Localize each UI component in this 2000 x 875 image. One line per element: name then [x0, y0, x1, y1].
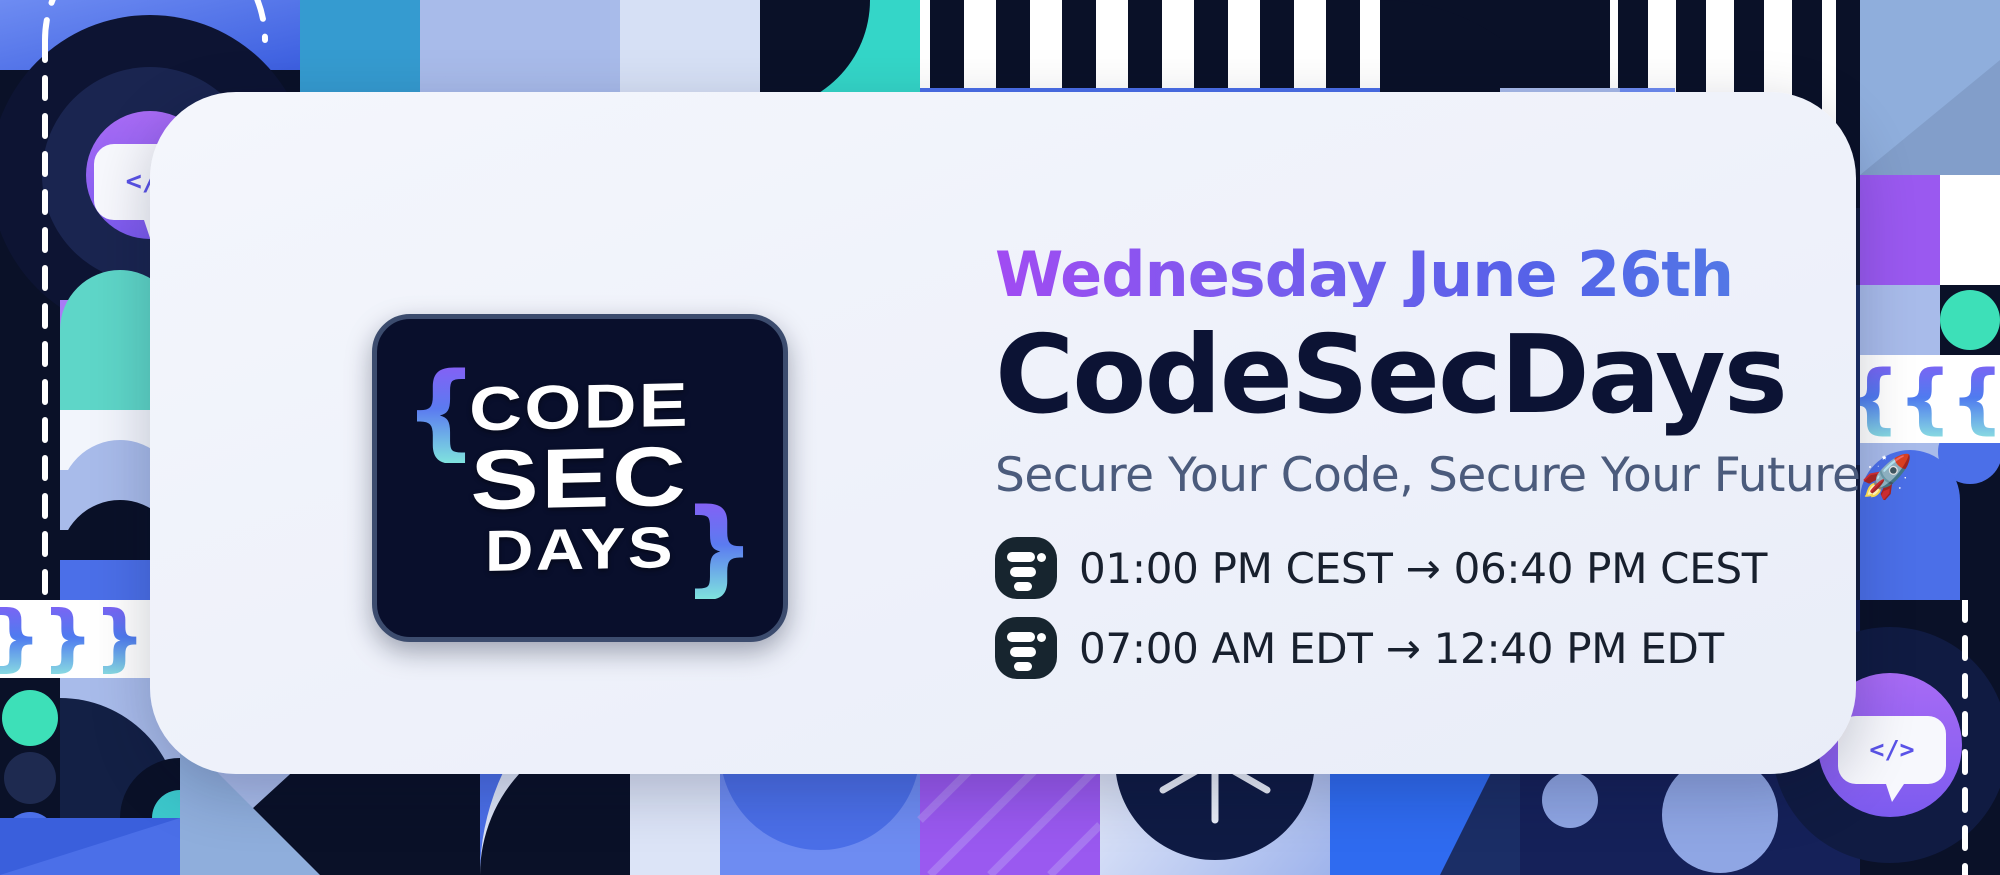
svg-text:}: } — [0, 595, 41, 679]
event-date: Wednesday June 26th — [995, 242, 1955, 307]
time-text-edt: 07:00 AM EDT → 12:40 PM EDT — [1079, 624, 1724, 673]
event-tagline: Secure Your Code, Secure Your Future🚀 — [995, 449, 1955, 503]
logo-line-days: DAYS — [485, 521, 675, 578]
logo-wordmark: CODE SEC DAYS — [486, 377, 673, 579]
content-card: { } CODE SEC DAYS Wednesday June 26th Co… — [150, 92, 1856, 774]
event-tagline-text: Secure Your Code, Secure Your Future — [995, 448, 1860, 503]
event-banner: </> } — [0, 0, 2000, 875]
time-row: 07:00 AM EDT → 12:40 PM EDT — [995, 617, 1955, 679]
time-row: 01:00 PM CEST → 06:40 PM CEST — [995, 537, 1955, 599]
agenda-icon — [995, 617, 1057, 679]
event-times: 01:00 PM CEST → 06:40 PM CEST 07:00 AM E… — [995, 537, 1955, 679]
svg-text:}: } — [94, 595, 145, 679]
svg-text:</>: </> — [1869, 735, 1914, 764]
rocket-icon: 🚀 — [1860, 452, 1912, 501]
svg-text:{: { — [1950, 353, 2000, 442]
svg-text:}: } — [42, 595, 93, 679]
time-text-cest: 01:00 PM CEST → 06:40 PM CEST — [1079, 544, 1767, 593]
logo-line-sec: SEC — [471, 438, 689, 520]
codesecdays-logo-tile: { } CODE SEC DAYS — [372, 314, 788, 642]
event-copy-block: Wednesday June 26th CodeSecDays Secure Y… — [995, 242, 1955, 679]
page-title: CodeSecDays — [995, 321, 1955, 431]
brace-open-icon: { — [404, 359, 478, 463]
brace-close-icon: } — [682, 495, 756, 599]
agenda-icon — [995, 537, 1057, 599]
